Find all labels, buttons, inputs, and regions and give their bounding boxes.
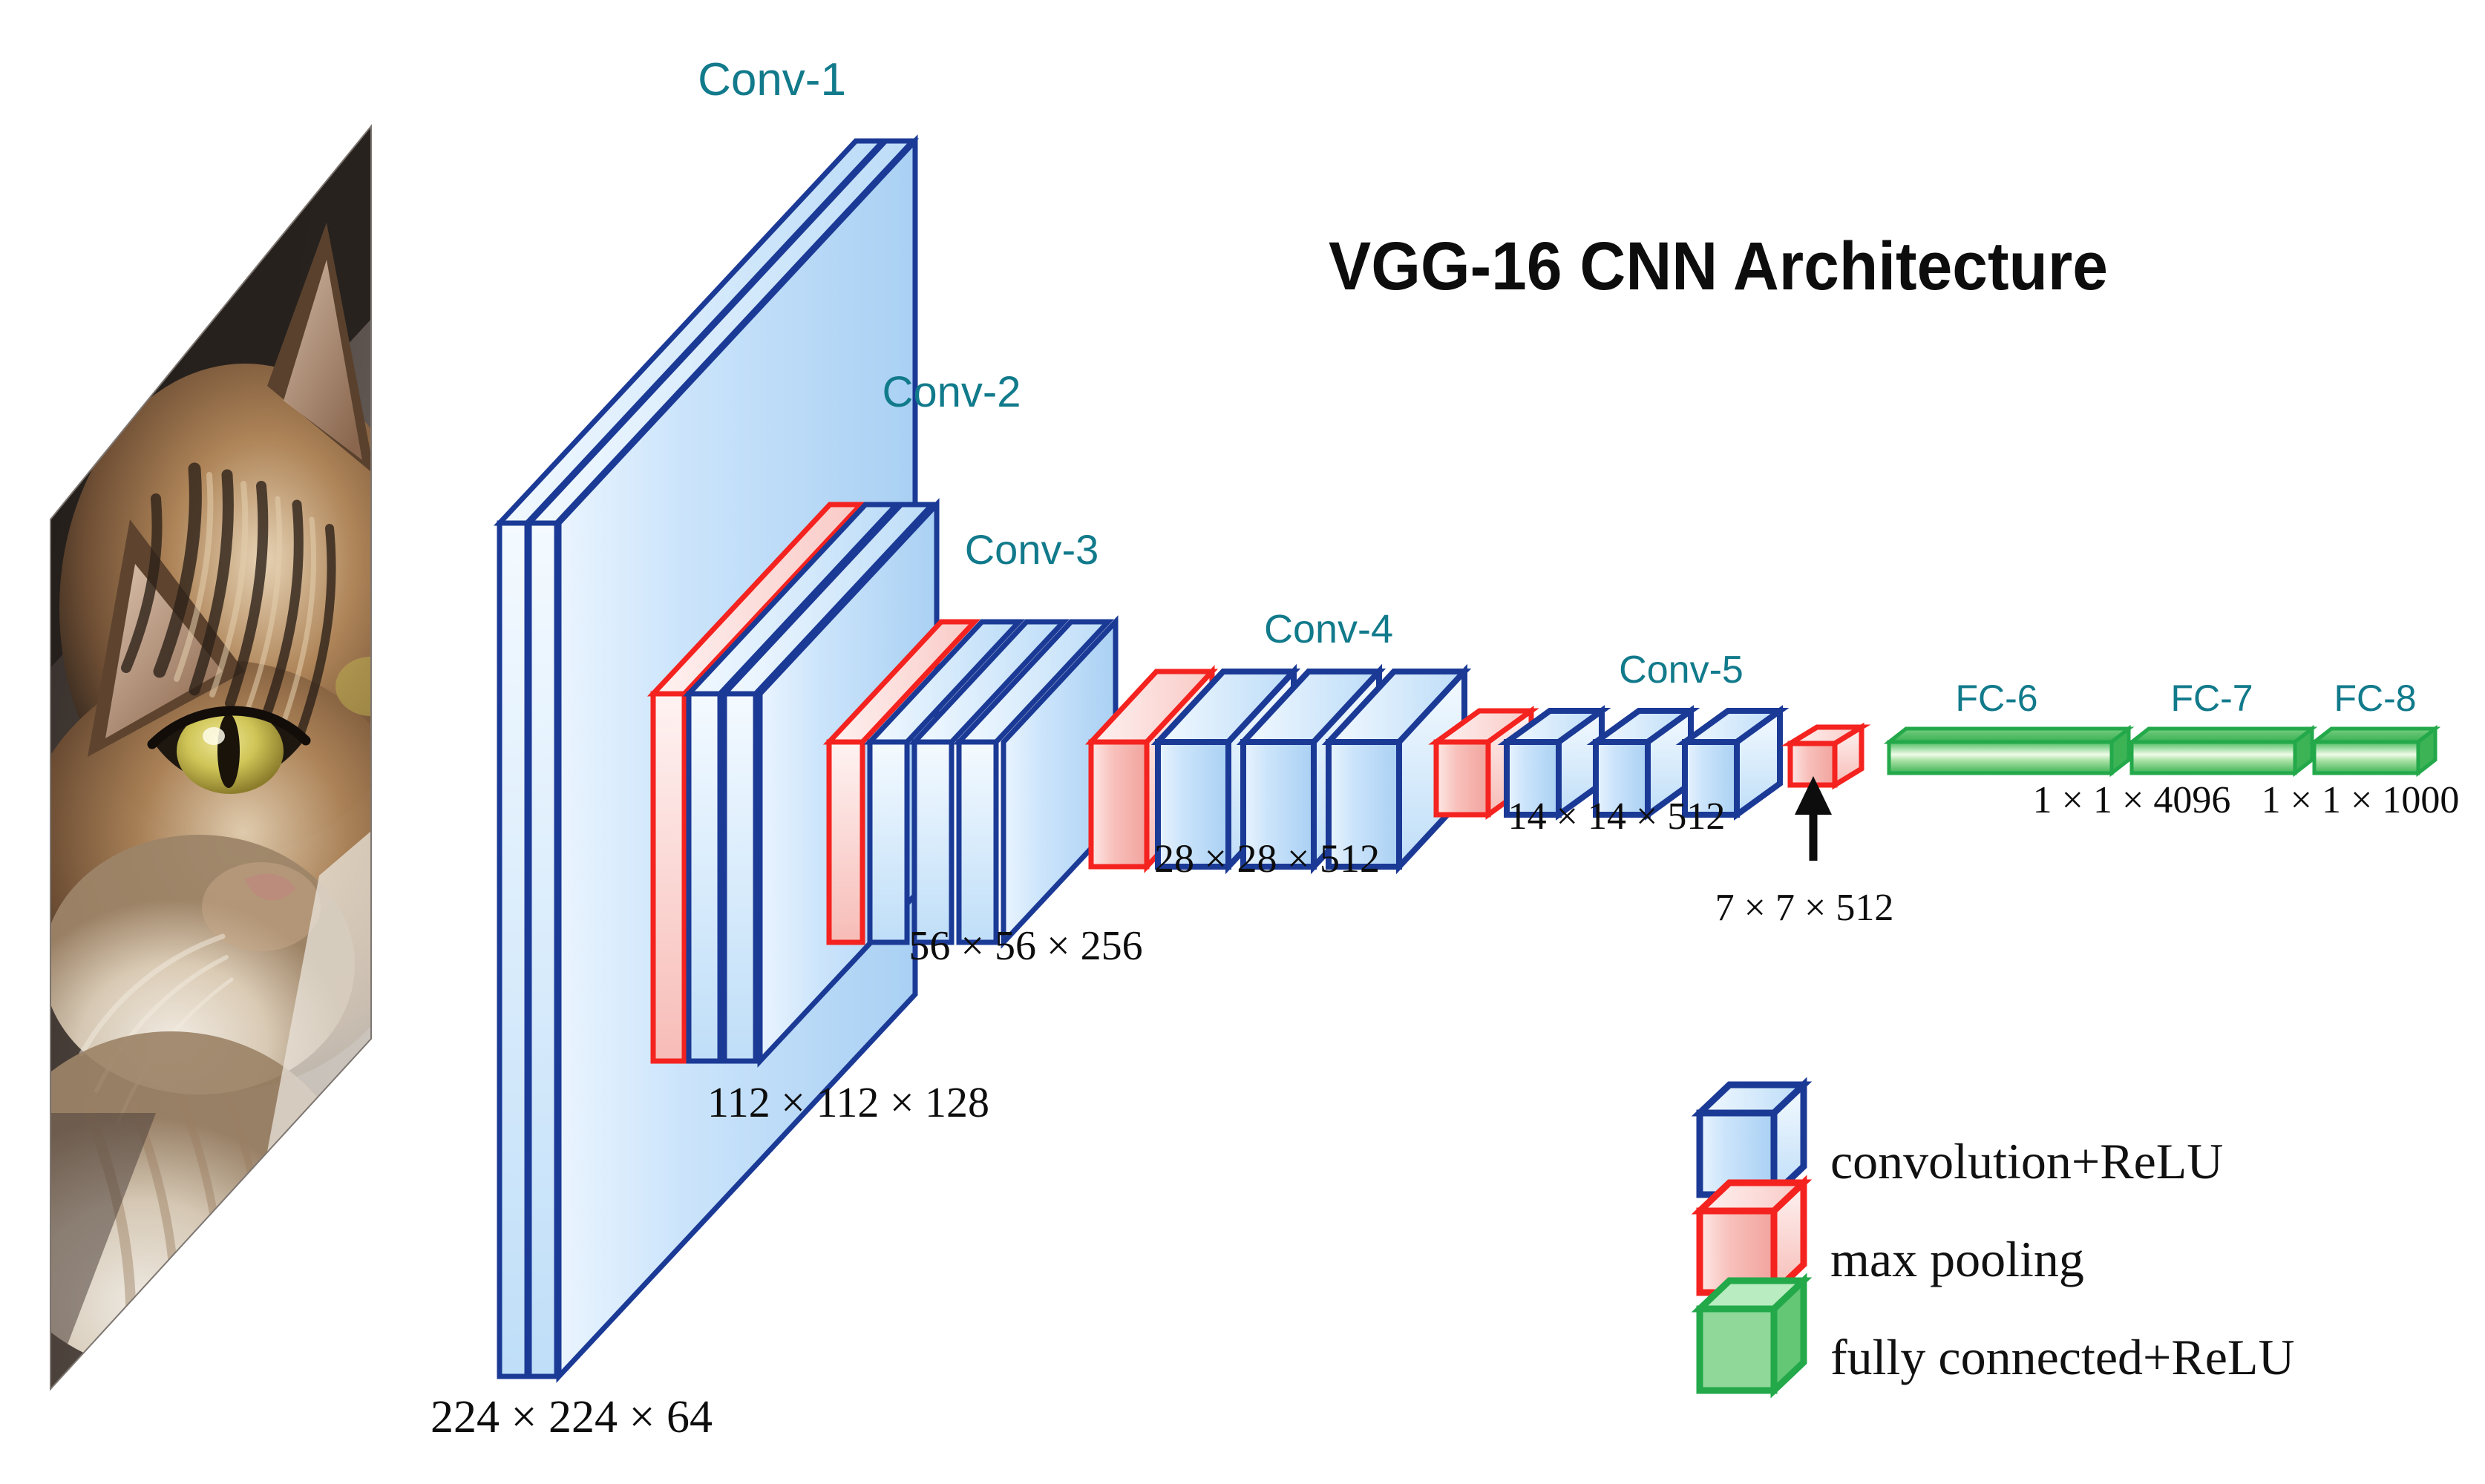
legend-label-pool: max pooling xyxy=(1830,1231,2084,1287)
legend-swatch-pool xyxy=(1700,1183,1804,1293)
legend-swatch-conv xyxy=(1700,1085,1804,1195)
legend-swatch-fc xyxy=(1700,1281,1804,1391)
legend: convolution+ReLU max pooling fully conne… xyxy=(0,0,2485,1484)
diagram-canvas: VGG-16 CNN Architecture Conv-1 Conv-2 Co… xyxy=(0,0,2485,1484)
legend-label-fc: fully connected+ReLU xyxy=(1830,1329,2295,1385)
legend-label-conv: convolution+ReLU xyxy=(1830,1133,2223,1189)
